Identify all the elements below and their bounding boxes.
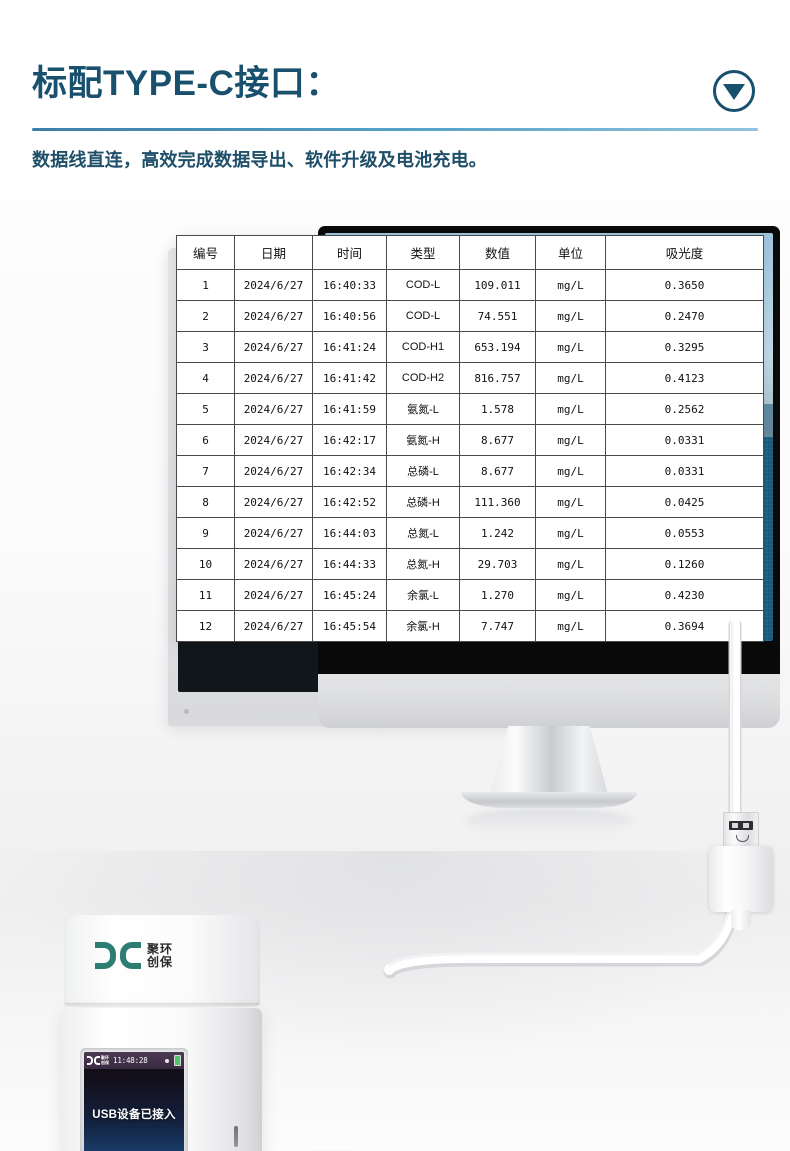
device-display[interactable]: 聚环 创保 11:48:28 USB设备已接入: [84, 1052, 184, 1151]
usb-a-contacts: [729, 821, 753, 830]
cell-value: 1.242: [460, 518, 536, 549]
cell-absorbance: 0.3295: [606, 332, 764, 363]
cell-time: 16:41:42: [313, 363, 387, 394]
cell-absorbance: 0.0331: [606, 425, 764, 456]
cell-value: 7.747: [460, 611, 536, 642]
cell-time: 16:41:59: [313, 394, 387, 425]
cell-type: 氨氮-L: [387, 394, 460, 425]
table-header-row: 编号 日期 时间 类型 数值 单位 吸光度: [177, 236, 764, 270]
cell-id: 2: [177, 301, 235, 332]
cell-unit: mg/L: [536, 301, 606, 332]
cell-unit: mg/L: [536, 456, 606, 487]
cell-id: 3: [177, 332, 235, 363]
cell-date: 2024/6/27: [235, 456, 313, 487]
cell-type: 余氯-L: [387, 580, 460, 611]
cell-type: 总氮-H: [387, 549, 460, 580]
cell-id: 12: [177, 611, 235, 642]
cell-time: 16:41:24: [313, 332, 387, 363]
table-row[interactable]: 62024/6/2716:42:17氨氮-H8.677mg/L0.0331: [177, 425, 764, 456]
jc-logo-icon: [95, 942, 141, 969]
device-display-frame: 聚环 创保 11:48:28 USB设备已接入: [80, 1048, 188, 1151]
cell-time: 16:45:54: [313, 611, 387, 642]
device-status-indicator-icon: [165, 1059, 169, 1063]
water-quality-analyzer-device: 聚环 创保 聚环 创保: [62, 915, 277, 1151]
cell-unit: mg/L: [536, 332, 606, 363]
cell-id: 8: [177, 487, 235, 518]
page-header: 标配TYPE-C接口： 数据线直连，高效完成数据导出、软件升级及电池充电。: [0, 0, 790, 205]
cell-date: 2024/6/27: [235, 518, 313, 549]
cell-absorbance: 0.0425: [606, 487, 764, 518]
cell-time: 16:42:34: [313, 456, 387, 487]
table-row[interactable]: 92024/6/2716:44:03总氮-L1.242mg/L0.0553: [177, 518, 764, 549]
column-header-unit: 单位: [536, 236, 606, 270]
cell-type: COD-L: [387, 301, 460, 332]
brand-line-2: 创保: [147, 955, 173, 969]
cell-id: 4: [177, 363, 235, 394]
cell-id: 6: [177, 425, 235, 456]
column-header-id: 编号: [177, 236, 235, 270]
cell-value: 653.194: [460, 332, 536, 363]
cell-date: 2024/6/27: [235, 580, 313, 611]
cell-time: 16:44:33: [313, 549, 387, 580]
cell-id: 5: [177, 394, 235, 425]
cell-date: 2024/6/27: [235, 487, 313, 518]
cell-time: 16:45:24: [313, 580, 387, 611]
measurement-records-card: 编号 日期 时间 类型 数值 单位 吸光度 12024/6/2716:40:33…: [176, 235, 763, 642]
cell-type: COD-H1: [387, 332, 460, 363]
cell-value: 111.360: [460, 487, 536, 518]
cell-unit: mg/L: [536, 580, 606, 611]
column-header-time: 时间: [313, 236, 387, 270]
cell-time: 16:44:03: [313, 518, 387, 549]
table-row[interactable]: 122024/6/2716:45:54余氯-H7.747mg/L0.3694: [177, 611, 764, 642]
statusbar-brand-2: 创保: [101, 1060, 109, 1065]
cell-type: 总磷-H: [387, 487, 460, 518]
cell-date: 2024/6/27: [235, 270, 313, 301]
table-row[interactable]: 112024/6/2716:45:24余氯-L1.270mg/L0.4230: [177, 580, 764, 611]
cell-absorbance: 0.2470: [606, 301, 764, 332]
column-header-value: 数值: [460, 236, 536, 270]
usb-a-metal-shell: [723, 812, 759, 848]
secondary-monitor-indicator: [184, 709, 189, 714]
brand-name-text: 聚环 创保: [147, 943, 173, 968]
table-row[interactable]: 32024/6/2716:41:24COD-H1653.194mg/L0.329…: [177, 332, 764, 363]
cell-value: 74.551: [460, 301, 536, 332]
cell-unit: mg/L: [536, 487, 606, 518]
cell-value: 1.578: [460, 394, 536, 425]
down-triangle-glyph: [723, 84, 745, 100]
table-row[interactable]: 22024/6/2716:40:56COD-L74.551mg/L0.2470: [177, 301, 764, 332]
measurement-table: 编号 日期 时间 类型 数值 单位 吸光度 12024/6/2716:40:33…: [176, 235, 764, 642]
cell-unit: mg/L: [536, 363, 606, 394]
cell-unit: mg/L: [536, 425, 606, 456]
cell-id: 11: [177, 580, 235, 611]
table-row[interactable]: 82024/6/2716:42:52总磷-H111.360mg/L0.0425: [177, 487, 764, 518]
cell-type: COD-H2: [387, 363, 460, 394]
cell-absorbance: 0.3650: [606, 270, 764, 301]
cell-id: 9: [177, 518, 235, 549]
cell-absorbance: 0.3694: [606, 611, 764, 642]
device-status-bar: 聚环 创保 11:48:28: [84, 1052, 184, 1069]
cell-id: 7: [177, 456, 235, 487]
header-divider: [32, 128, 758, 131]
cell-date: 2024/6/27: [235, 425, 313, 456]
device-body: 聚环 创保 11:48:28 USB设备已接入: [62, 1008, 262, 1151]
cell-absorbance: 0.4230: [606, 580, 764, 611]
cell-value: 109.011: [460, 270, 536, 301]
monitor-chin: [318, 674, 780, 728]
cell-date: 2024/6/27: [235, 301, 313, 332]
cell-value: 8.677: [460, 425, 536, 456]
cell-time: 16:40:56: [313, 301, 387, 332]
cell-unit: mg/L: [536, 518, 606, 549]
cell-type: 氨氮-H: [387, 425, 460, 456]
usb-trident-icon: [736, 835, 749, 842]
cell-unit: mg/L: [536, 270, 606, 301]
cell-value: 29.703: [460, 549, 536, 580]
device-statusbar-logo-icon: 聚环 创保: [87, 1056, 109, 1065]
cell-type: 总氮-L: [387, 518, 460, 549]
cell-date: 2024/6/27: [235, 363, 313, 394]
monitor-stand-reflection: [465, 808, 633, 834]
cell-date: 2024/6/27: [235, 611, 313, 642]
cell-time: 16:40:33: [313, 270, 387, 301]
cell-type: 总磷-L: [387, 456, 460, 487]
cell-value: 8.677: [460, 456, 536, 487]
usb-a-housing: [709, 846, 773, 912]
cell-absorbance: 0.1260: [606, 549, 764, 580]
cell-absorbance: 0.2562: [606, 394, 764, 425]
cell-date: 2024/6/27: [235, 394, 313, 425]
cell-value: 1.270: [460, 580, 536, 611]
device-status-message: USB设备已接入: [84, 1106, 184, 1122]
cell-date: 2024/6/27: [235, 332, 313, 363]
cell-value: 816.757: [460, 363, 536, 394]
cell-absorbance: 0.0331: [606, 456, 764, 487]
cell-type: COD-L: [387, 270, 460, 301]
table-row[interactable]: 42024/6/2716:41:42COD-H2816.757mg/L0.412…: [177, 363, 764, 394]
page-title: 标配TYPE-C接口：: [32, 62, 341, 106]
table-body: 12024/6/2716:40:33COD-L109.011mg/L0.3650…: [177, 270, 764, 642]
table-row[interactable]: 102024/6/2716:44:33总氮-H29.703mg/L0.1260: [177, 549, 764, 580]
device-clock: 11:48:28: [113, 1056, 148, 1065]
circle-down-triangle-icon[interactable]: [713, 70, 755, 112]
cell-absorbance: 0.4123: [606, 363, 764, 394]
table-row[interactable]: 12024/6/2716:40:33COD-L109.011mg/L0.3650: [177, 270, 764, 301]
product-feature-page: 标配TYPE-C接口： 数据线直连，高效完成数据导出、软件升级及电池充电。: [0, 0, 790, 1151]
device-power-button[interactable]: [234, 1126, 238, 1147]
cell-id: 10: [177, 549, 235, 580]
cell-unit: mg/L: [536, 611, 606, 642]
monitor-stand-neck: [489, 726, 609, 798]
column-header-date: 日期: [235, 236, 313, 270]
usb-a-strain-relief: [731, 910, 751, 930]
table-row[interactable]: 52024/6/2716:41:59氨氮-L1.578mg/L0.2562: [177, 394, 764, 425]
table-row[interactable]: 72024/6/2716:42:34总磷-L8.677mg/L0.0331: [177, 456, 764, 487]
page-subtitle: 数据线直连，高效完成数据导出、软件升级及电池充电。: [32, 146, 487, 172]
cell-unit: mg/L: [536, 549, 606, 580]
cell-time: 16:42:52: [313, 487, 387, 518]
table-header: 编号 日期 时间 类型 数值 单位 吸光度: [177, 236, 764, 270]
battery-icon: [174, 1055, 181, 1066]
cell-absorbance: 0.0553: [606, 518, 764, 549]
cell-date: 2024/6/27: [235, 549, 313, 580]
cell-unit: mg/L: [536, 394, 606, 425]
column-header-absorbance: 吸光度: [606, 236, 764, 270]
cell-time: 16:42:17: [313, 425, 387, 456]
column-header-type: 类型: [387, 236, 460, 270]
monitor-stand-foot: [461, 792, 637, 808]
cell-type: 余氯-H: [387, 611, 460, 642]
device-brand-logo: 聚环 创保: [95, 942, 173, 969]
cell-id: 1: [177, 270, 235, 301]
